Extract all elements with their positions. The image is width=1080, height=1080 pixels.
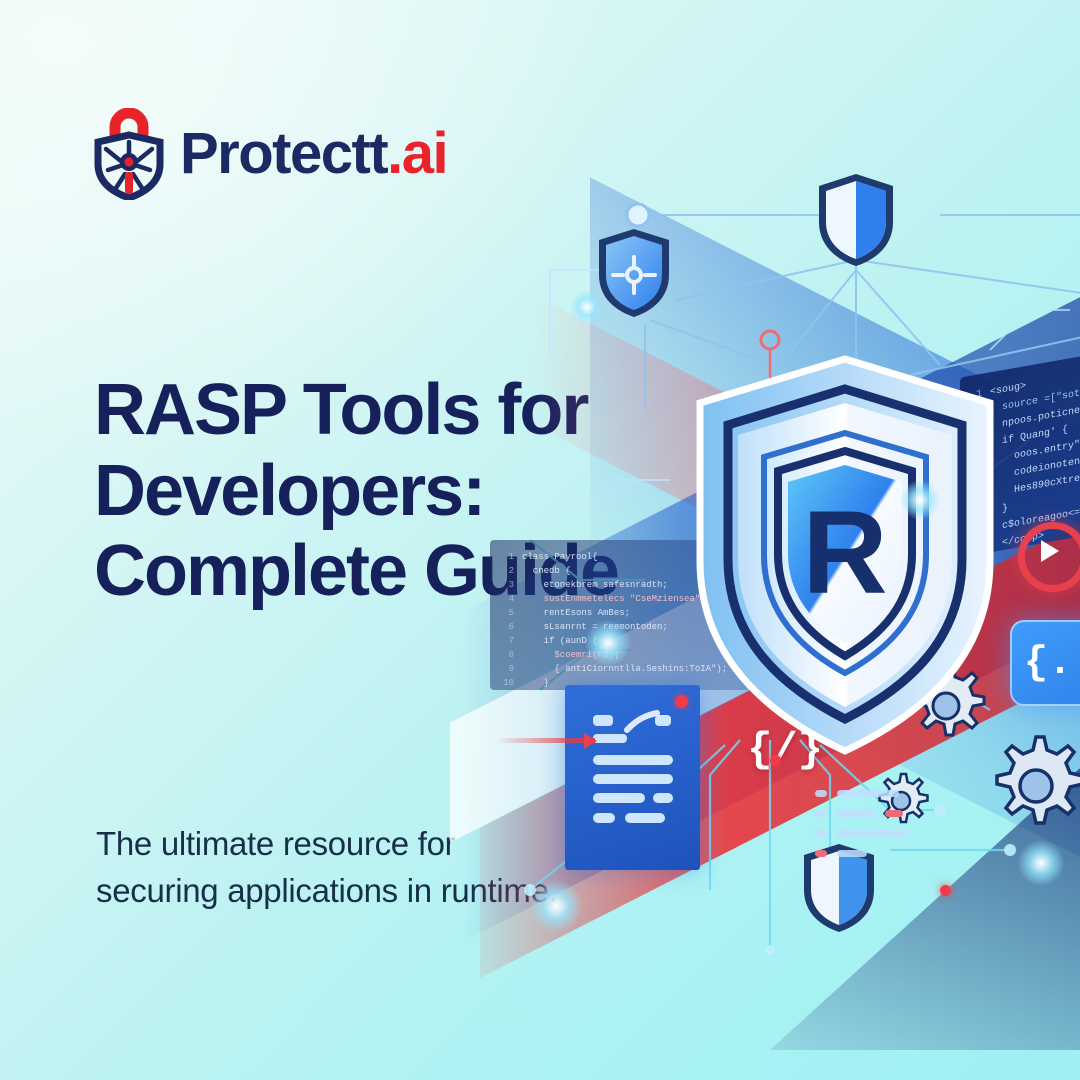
log-lines-decoration — [815, 790, 945, 870]
brand-name-suffix: .ai — [387, 121, 447, 186]
code-braces-badge: {..} — [1010, 620, 1080, 706]
svg-text:R: R — [802, 487, 887, 619]
shield-crosshair-icon-left — [595, 225, 673, 320]
hero-banner: Protectt.ai RASP Tools for Developers: C… — [0, 0, 1080, 1080]
brand-name-primary: Protectt — [180, 121, 387, 186]
red-dot — [770, 755, 781, 766]
red-dot — [675, 695, 688, 708]
brand-logo[interactable]: Protectt.ai — [92, 108, 447, 200]
glow-dot — [1018, 840, 1064, 886]
glow-dot — [530, 880, 582, 932]
glow-dot — [570, 290, 604, 324]
shield-icon-top — [815, 170, 897, 270]
alert-play-icon — [1018, 522, 1080, 592]
pointer-arrow-icon — [495, 738, 595, 743]
red-dot — [940, 885, 951, 896]
shield-lock-network-icon — [92, 108, 166, 200]
main-shield-icon: R — [690, 355, 1000, 755]
glow-dot — [900, 480, 940, 520]
glow-dot — [585, 620, 631, 666]
brand-name: Protectt.ai — [180, 125, 447, 183]
document-edit-icon — [565, 685, 700, 870]
hero-illustration: 1class Payrool{ 2 cnedb { 3 etonekbrem s… — [470, 150, 1080, 1010]
